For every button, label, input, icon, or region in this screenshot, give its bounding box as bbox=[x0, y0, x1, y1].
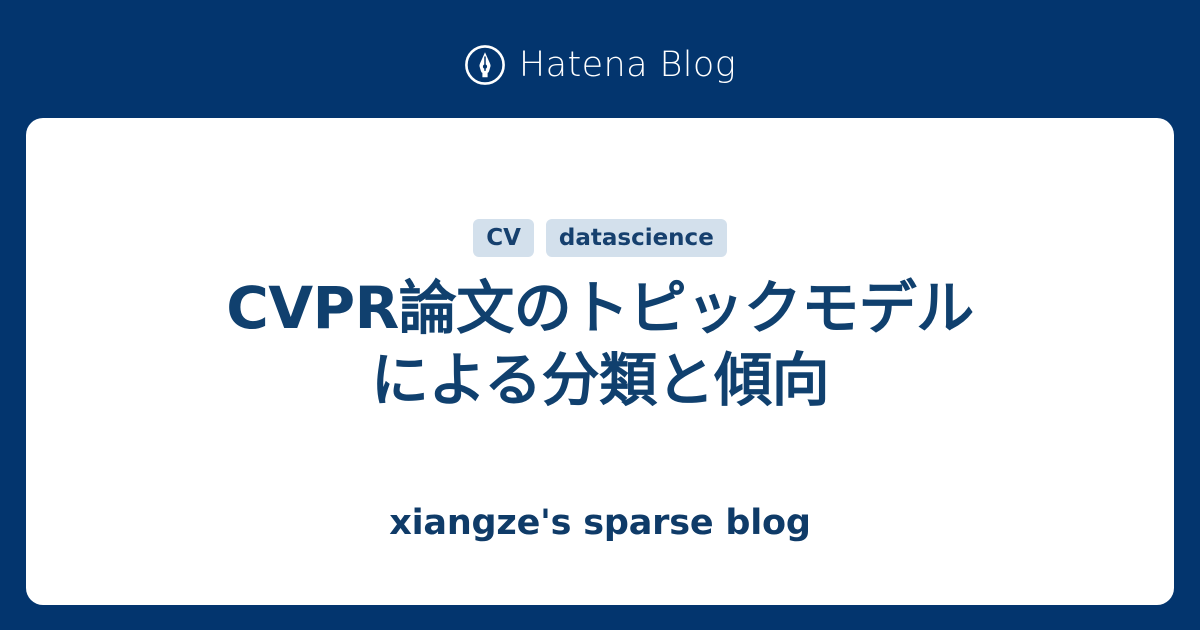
hatena-blog-brand[interactable]: Hatena Blog bbox=[0, 34, 1200, 96]
hatena-blog-brand-name: Hatena Blog bbox=[519, 48, 736, 83]
hatena-logo bbox=[464, 44, 506, 86]
pen-nib-circle-icon bbox=[464, 44, 506, 86]
ogp-card-canvas: Hatena Blog CV datascience CVPR論文のトピックモデ… bbox=[0, 0, 1200, 630]
entry-title: CVPR論文のトピックモデルによる分類と傾向 bbox=[205, 273, 995, 417]
tag-datascience[interactable]: datascience bbox=[546, 219, 727, 257]
tag-list: CV datascience bbox=[473, 219, 727, 257]
blog-name[interactable]: xiangze's sparse blog bbox=[26, 506, 1174, 541]
tag-cv[interactable]: CV bbox=[473, 219, 534, 257]
entry-card: CV datascience CVPR論文のトピックモデルによる分類と傾向 xi… bbox=[26, 118, 1174, 605]
